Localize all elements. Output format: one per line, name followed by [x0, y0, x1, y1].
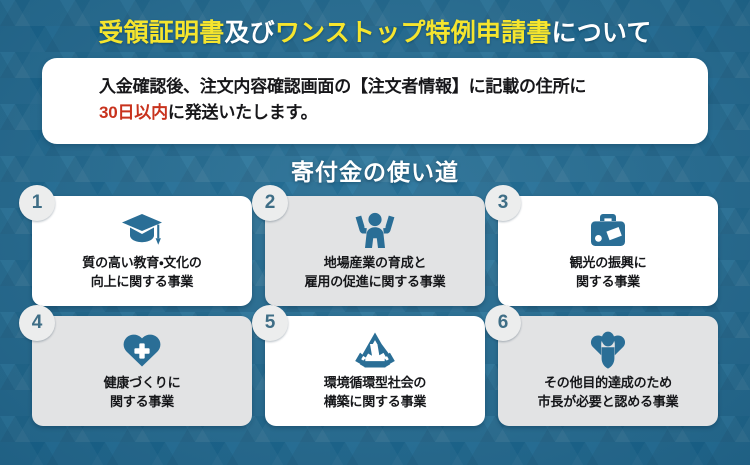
recycle-icon — [354, 330, 396, 370]
usage-card-label-6: その他目的達成のため 市長が必要と認める事業 — [538, 374, 679, 412]
card-number-badge-6: 6 — [485, 305, 521, 341]
suitcase-icon — [587, 210, 629, 250]
usage-card-grid: 1 質の高い教育・文化の 向上に関する事業 2 — [0, 196, 750, 426]
graduation-cap-icon — [121, 210, 163, 250]
page-title-segment-2: 及び — [224, 19, 274, 47]
page-title: 受領証明書及びワンストップ特例申請書について — [98, 13, 651, 49]
page-title-segment-1: 受領証明書 — [98, 19, 224, 47]
usage-card-label-1: 質の高い教育・文化の 向上に関する事業 — [82, 254, 201, 292]
poster-root: 受領証明書及びワンストップ特例申請書について 入金確認後、注文内容確認画面の【注… — [0, 0, 750, 465]
section-heading-label: 寄付金の使い道 — [291, 153, 459, 187]
usage-card-2[interactable]: 2 地場産業の育成と 雇用の促進に関する事業 — [265, 196, 485, 306]
usage-card-4[interactable]: 4 健康づくりに 関する事業 — [32, 316, 252, 426]
person-cheering-icon — [353, 210, 397, 250]
card-number-badge-5: 5 — [252, 305, 288, 341]
card-number-badge-2: 2 — [252, 185, 288, 221]
notice-box: 入金確認後、注文内容確認画面の【注文者情報】に記載の住所に 30日以内に発送いた… — [42, 58, 708, 144]
notice-line-2-rest: に発送いたします。 — [168, 103, 318, 122]
card-number-badge-4: 4 — [19, 305, 55, 341]
usage-card-5[interactable]: 5 環境循環型社会の 構築に関する事業 — [265, 316, 485, 426]
header-title-bar: 受領証明書及びワンストップ特例申請書について — [0, 0, 750, 58]
usage-card-6[interactable]: 6 その他目的達成のため 市長が必要と認める事業 — [498, 316, 718, 426]
notice-emphasis-deadline: 30日以内 — [99, 103, 168, 122]
page-title-segment-3: ワンストップ特例申請書 — [275, 19, 552, 47]
page-title-segment-4: について — [552, 19, 652, 47]
usage-card-1[interactable]: 1 質の高い教育・文化の 向上に関する事業 — [32, 196, 252, 306]
usage-card-label-5: 環境循環型社会の 構築に関する事業 — [324, 374, 426, 412]
notice-line-2: 30日以内に発送いたします。 — [42, 100, 708, 126]
card-number-badge-3: 3 — [485, 185, 521, 221]
person-open-arms-icon — [590, 330, 626, 370]
heart-plus-icon — [122, 330, 162, 370]
notice-line-1: 入金確認後、注文内容確認画面の【注文者情報】に記載の住所に — [42, 74, 708, 100]
usage-card-3[interactable]: 3 観光の振興に 関する事業 — [498, 196, 718, 306]
section-heading: 寄付金の使い道 — [0, 144, 750, 196]
usage-card-label-3: 観光の振興に 関する事業 — [570, 254, 647, 292]
card-number-badge-1: 1 — [19, 185, 55, 221]
usage-card-label-2: 地場産業の育成と 雇用の促進に関する事業 — [305, 254, 446, 292]
usage-card-label-4: 健康づくりに 関する事業 — [104, 374, 181, 412]
